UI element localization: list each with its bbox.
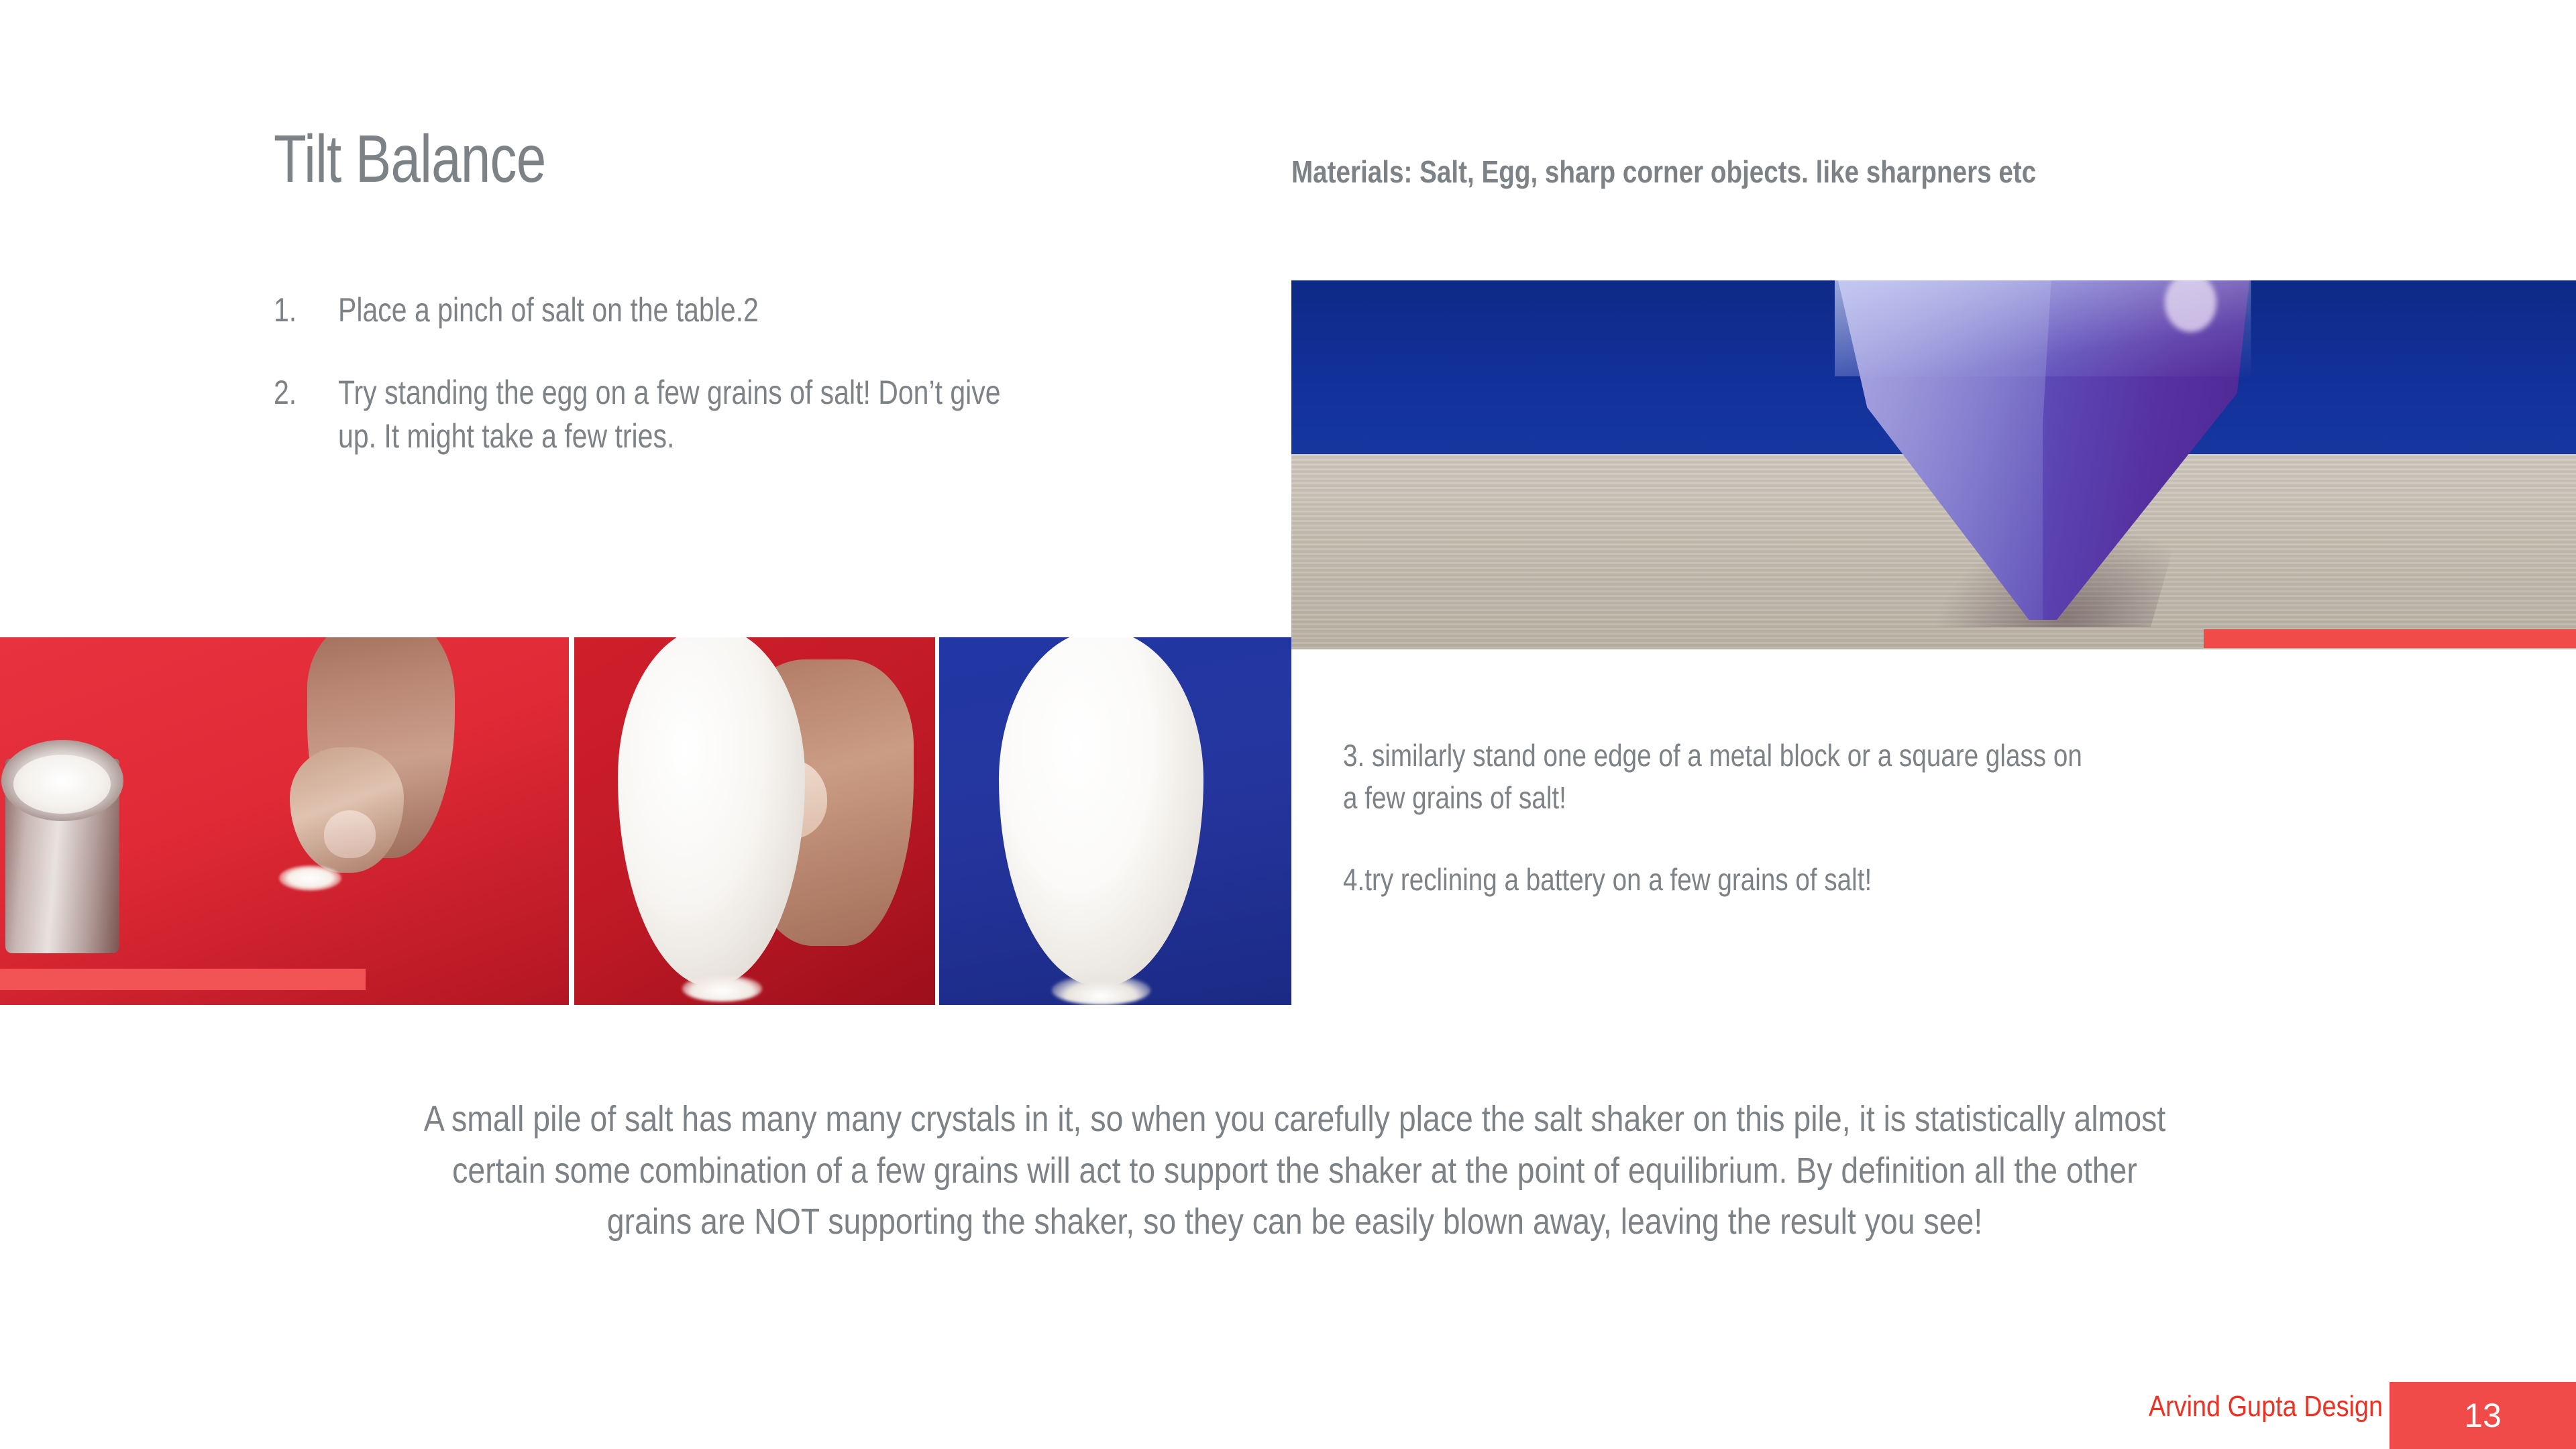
list-item-text: Try standing the egg on a few grains of … xyxy=(338,371,1022,458)
page-number-text: 13 xyxy=(2390,1396,2576,1435)
list-item-text: Place a pinch of salt on the table.2 xyxy=(338,288,1022,332)
instruction-list-right: 3. similarly stand one edge of a metal b… xyxy=(1343,735,2092,901)
red-accent-bar-left xyxy=(0,969,366,990)
list-item-number: 2. xyxy=(274,371,327,415)
salt-in-tin xyxy=(13,755,110,814)
wedge-balance-photo xyxy=(1291,280,2576,649)
salt-pile-under-egg xyxy=(682,975,761,1001)
red-accent-bar-right xyxy=(2204,629,2576,648)
page-title: Tilt Balance xyxy=(274,124,545,195)
instruction-item-3: 3. similarly stand one edge of a metal b… xyxy=(1343,735,2092,820)
egg-in-hand-photo xyxy=(574,637,935,1005)
egg-standing-photo xyxy=(939,637,1291,1005)
instruction-list-left: 1. Place a pinch of salt on the table.2 … xyxy=(274,288,1173,497)
explanation-paragraph: A small pile of salt has many many cryst… xyxy=(412,1093,2178,1248)
fingernail xyxy=(324,810,375,858)
photo-strip-left xyxy=(0,637,1291,1005)
list-item: 2. Try standing the egg on a few grains … xyxy=(274,371,1173,458)
list-item-number: 1. xyxy=(274,288,327,332)
salt-pinch-on-table xyxy=(279,865,341,891)
salt-tin-photo xyxy=(0,637,569,1005)
materials-heading: Materials: Salt, Egg, sharp corner objec… xyxy=(1291,153,2137,191)
salt-pile-under-egg xyxy=(1052,975,1150,1005)
page-number-badge: 13 xyxy=(2390,1382,2576,1449)
instruction-item-4: 4.try reclining a battery on a few grain… xyxy=(1343,859,2092,901)
footer-credit: Arvind Gupta Design xyxy=(2149,1390,2383,1424)
list-item: 1. Place a pinch of salt on the table.2 xyxy=(274,288,1173,332)
slide-canvas: Tilt Balance 1. Place a pinch of salt on… xyxy=(0,0,2576,1449)
